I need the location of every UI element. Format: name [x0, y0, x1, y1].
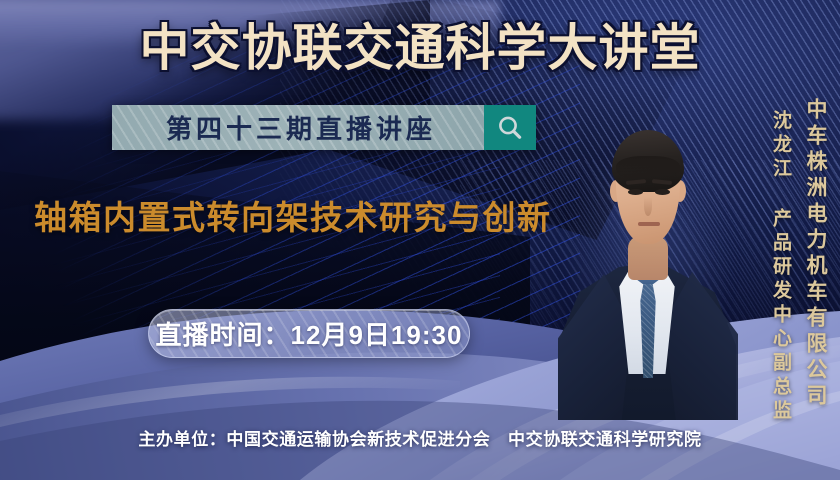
portrait-mouth [638, 222, 660, 226]
broadcast-time-badge: 直播时间：12月9日19:30 [148, 309, 470, 358]
search-icon [495, 113, 525, 143]
search-button[interactable] [484, 105, 536, 150]
episode-label: 第四十三期直播讲座 [160, 109, 436, 146]
lecture-title: 轴箱内置式转向架技术研究与创新 [34, 196, 594, 240]
poster-canvas: 中交协联交通科学大讲堂 第四十三期直播讲座 轴箱内置式转向架技术研究与创新 直播… [0, 0, 840, 480]
portrait-nose [644, 197, 652, 216]
portrait-eye-right [655, 189, 670, 195]
portrait-eye-left [628, 189, 643, 195]
episode-plate: 第四十三期直播讲座 [112, 105, 484, 150]
speaker-portrait [556, 96, 738, 416]
speaker-company: 中车株洲电力机车有限公司 [800, 98, 830, 410]
organizer-footer: 主办单位：中国交通运输协会新技术促进分会 中交协联交通科学研究院 [0, 425, 840, 450]
episode-banner: 第四十三期直播讲座 [112, 105, 536, 150]
broadcast-time-label: 直播时间：12月9日19:30 [156, 315, 463, 352]
page-title: 中交协联交通科学大讲堂 [0, 17, 840, 79]
speaker-name-and-role: 沈龙江 产品研发中心副总监 [767, 110, 794, 424]
